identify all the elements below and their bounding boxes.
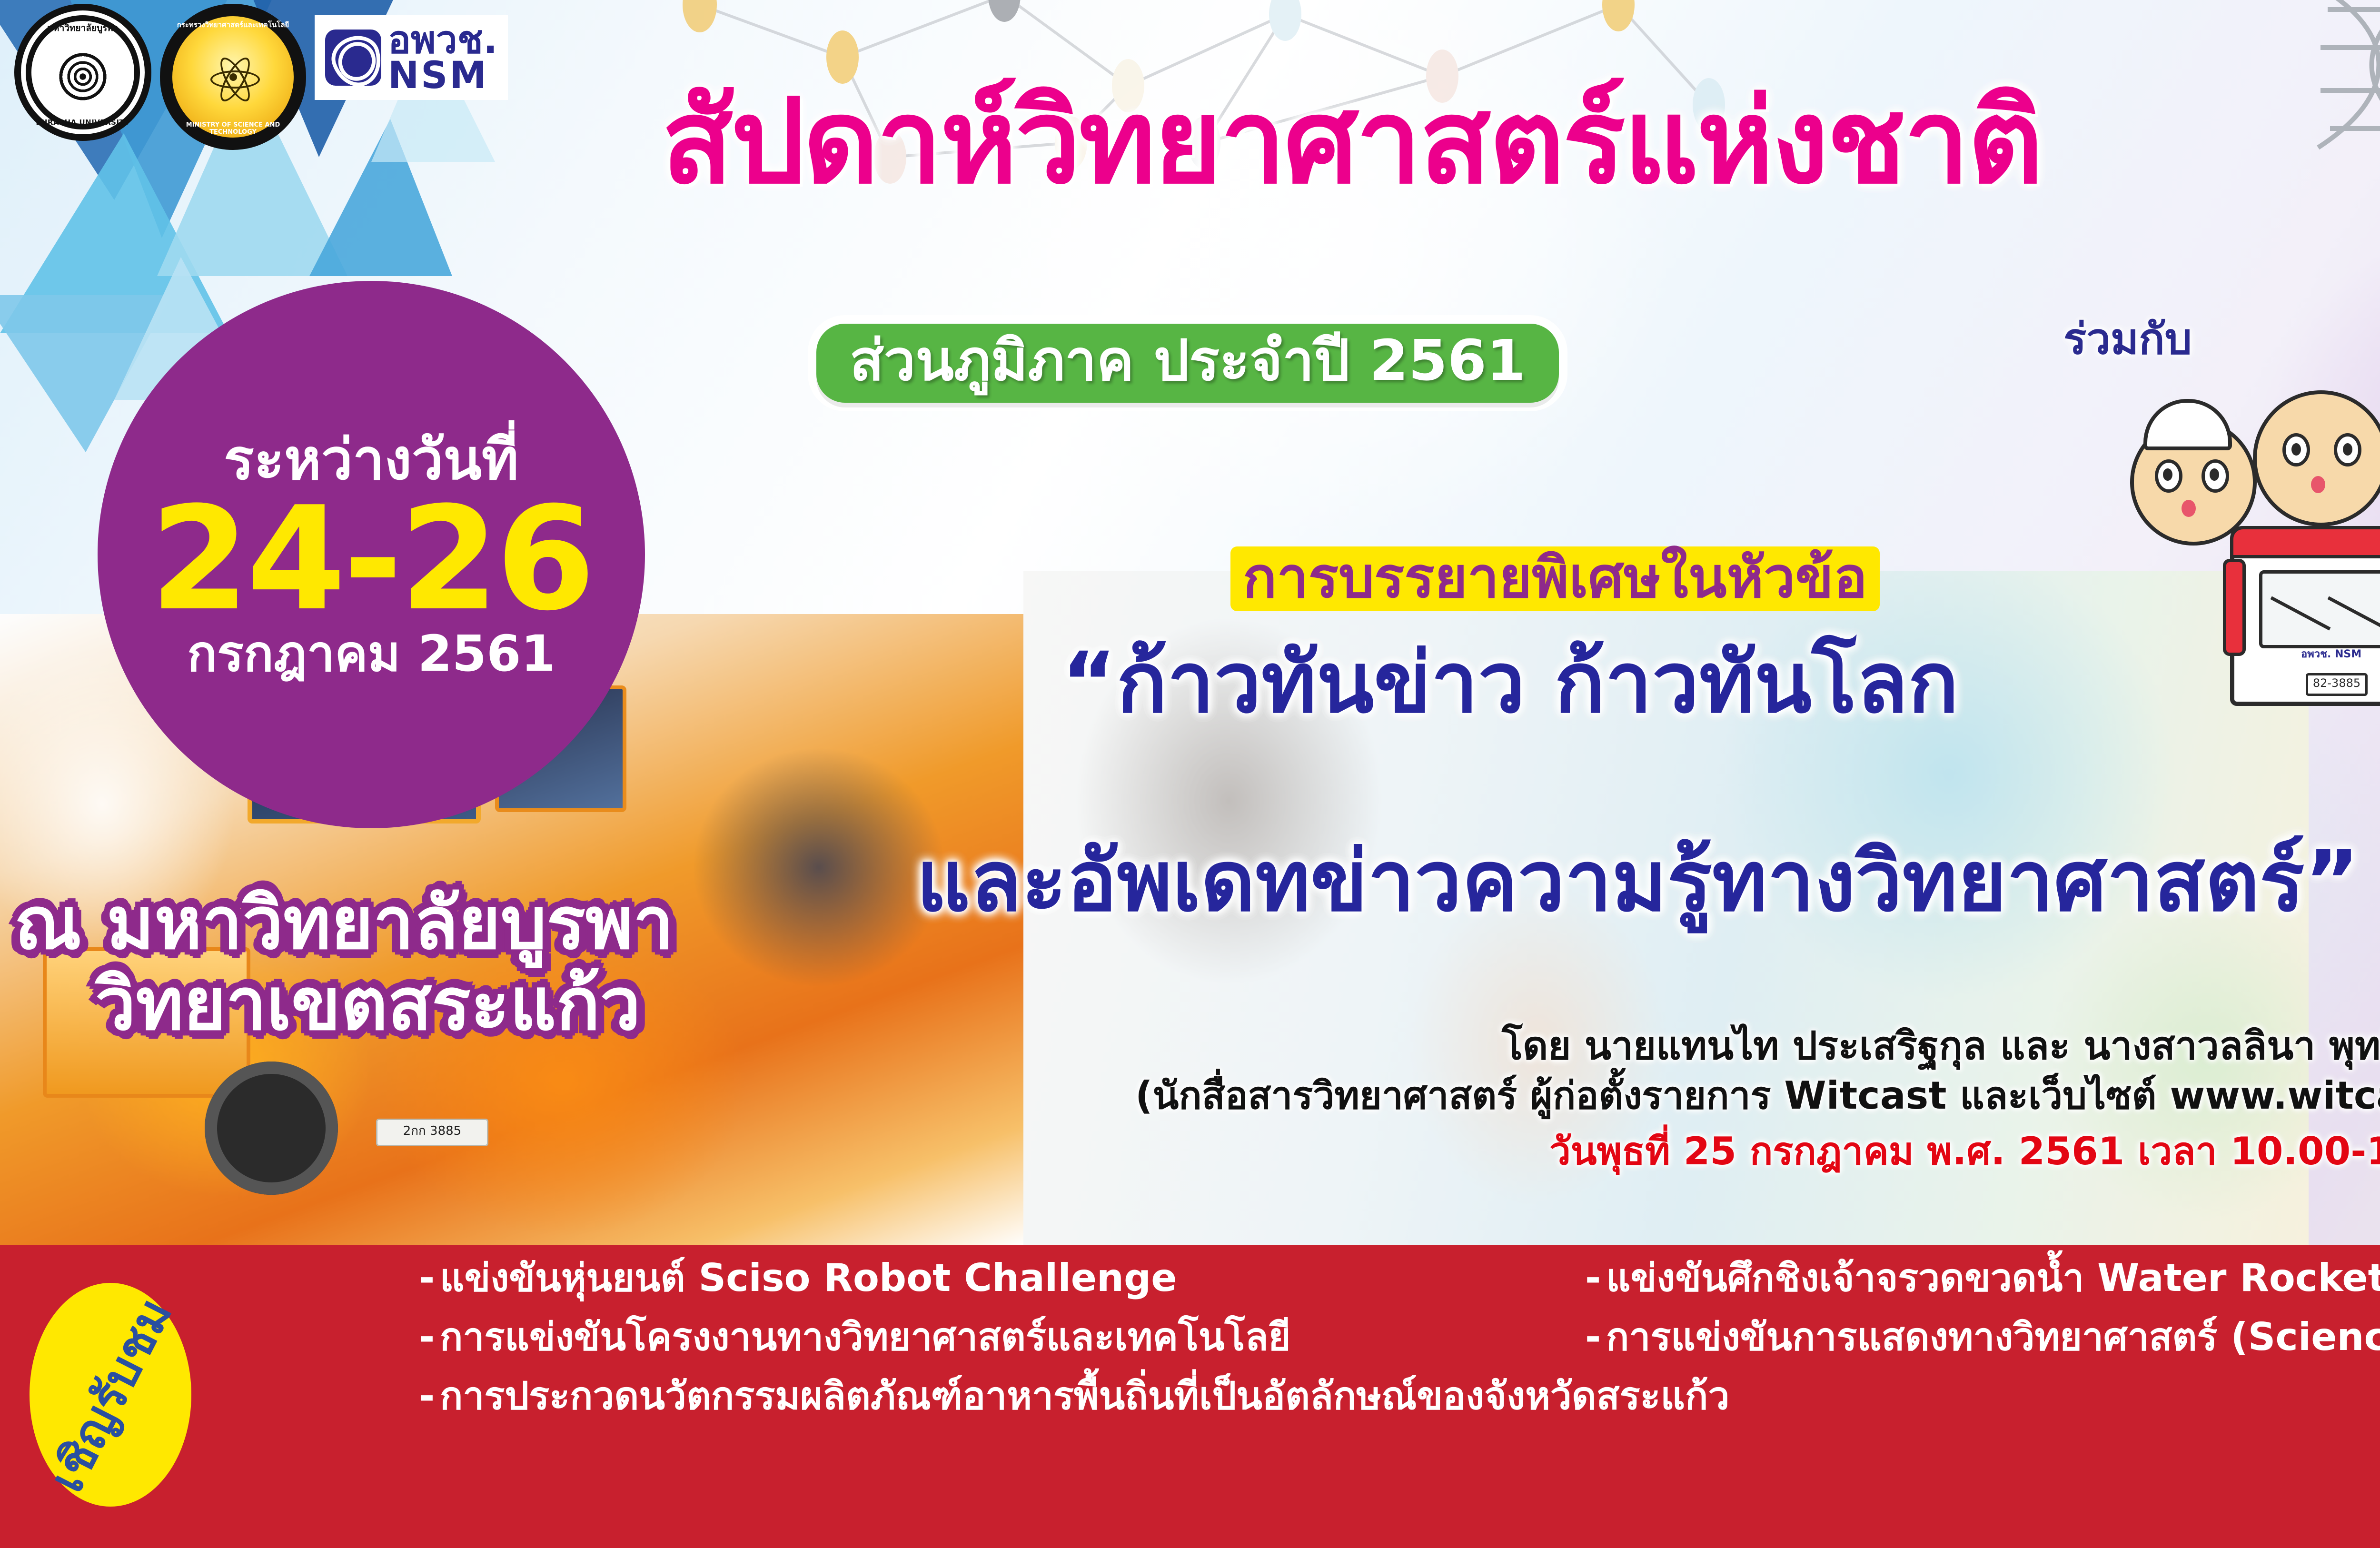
dna-helix-icon	[2275, 0, 2380, 200]
mascot-boy-eye	[2282, 433, 2310, 466]
lecture-heading: การบรรยายพิเศษในหัวข้อ	[1230, 546, 1880, 611]
list-item: แข่งขันศึกชิงเจ้าจรวดขวดน้ำ Water Rocket…	[1585, 1259, 2380, 1297]
mascot-boy-mouth	[2311, 476, 2325, 493]
nsm-thai-label: อพวช.	[388, 22, 497, 58]
activities-column-right: แข่งขันศึกชิงเจ้าจรวดขวดน้ำ Water Rocket…	[1585, 1259, 2380, 1377]
bus-roof	[2233, 529, 2380, 558]
mascot-girl-cap-icon	[2143, 399, 2232, 450]
mascot-girl-mouth	[2182, 500, 2196, 517]
venue-block: ณ มหาวิทยาลัยบูรพา วิทยาเขตสระแก้ว	[14, 883, 674, 1045]
list-item: การแข่งขันการแสดงทางวิทยาศาสตร์ (Science…	[1585, 1318, 2380, 1356]
bus-mirror-left	[2223, 559, 2246, 656]
bus-plate-label: 82-3885	[2306, 673, 2368, 696]
mascot-girl-eye	[2201, 459, 2229, 493]
buu-logo-thai-text: มหาวิทยาลัยบูรพา	[21, 21, 145, 35]
invite-badge: เชิญรับชม	[30, 1283, 191, 1507]
buu-logo-english-text: BURAPHA UNIVERSITY	[21, 118, 145, 127]
venue-line-2: วิทยาเขตสระแก้ว	[95, 964, 674, 1045]
nsm-english-label: NSM	[388, 58, 497, 93]
lecture-title-line-1: “ก้าวทันข่าว ก้าวทันโลก	[1061, 640, 1959, 726]
date-month-year: กรกฎาคม 2561	[187, 629, 555, 678]
activities-footer-bar: เชิญรับชม แข่งขันหุ่นยนต์ Sciso Robot Ch…	[0, 1245, 2380, 1548]
page-title: สัปดาห์วิทยาศาสตร์แห่งชาติ	[662, 83, 2042, 200]
lecture-title-line-2: และอัพเดทข่าวความรู้ทางวิทยาศาสตร์”	[916, 839, 2360, 924]
mascot-boy-head	[2253, 390, 2380, 526]
date-badge: ระหว่างวันที่ 24-26 กรกฎาคม 2561	[98, 281, 645, 828]
lecture-schedule: วันพุธที่ 25 กรกฎาคม พ.ศ. 2561 เวลา 10.0…	[1549, 1121, 2380, 1181]
list-item: แข่งขันหุ่นยนต์ Sciso Robot Challenge	[419, 1259, 1729, 1297]
ministry-of-science-logo: กระทรวงวิทยาศาสตร์และเทคโนโลยี MINISTRY …	[160, 4, 306, 150]
nsm-swirl-icon	[325, 30, 381, 86]
caravan-mascot-illustration: อพวช. NSM 82-3885	[2125, 362, 2380, 705]
partnership-label: ร่วมกับ	[2063, 305, 2192, 373]
lecture-credentials: (นักสื่อสารวิทยาศาสตร์ ผู้ก่อตั้งรายการ …	[1135, 1065, 2380, 1126]
most-logo-thai-text: กระทรวงวิทยาศาสตร์และเทคโนโลยี	[172, 19, 294, 30]
subtitle-pill: ส่วนภูมิภาค ประจำปี 2561	[816, 324, 1559, 403]
list-item: การประกวดนวัตกรรมผลิตภัณฑ์อาหารพื้นถิ่นท…	[419, 1377, 1729, 1415]
nsm-logo: อพวช. NSM	[315, 15, 508, 100]
most-logo-english-text: MINISTRY OF SCIENCE AND TECHNOLOGY	[172, 121, 294, 136]
invite-badge-label: เชิญรับชม	[30, 1285, 192, 1505]
partner-logos: มหาวิทยาลัยบูรพา BURAPHA UNIVERSITY กระท…	[14, 4, 508, 150]
event-poster-banner: 2กก 3885 มหาวิทยาลัยบูรพา BURAPHA UNIVER…	[0, 0, 2380, 1548]
buu-logo-emblem	[47, 37, 119, 108]
venue-line-1: ณ มหาวิทยาลัยบูรพา	[14, 883, 674, 964]
atom-icon	[210, 54, 256, 100]
nsm-wordmark: อพวช. NSM	[388, 22, 497, 93]
date-days: 24-26	[150, 491, 592, 627]
poster-top-background: 2กก 3885 มหาวิทยาลัยบูรพา BURAPHA UNIVER…	[0, 0, 2380, 1245]
mascot-bus-icon: อพวช. NSM 82-3885	[2230, 526, 2380, 706]
bus-windshield-icon	[2259, 570, 2380, 648]
mascot-boy-eye	[2334, 433, 2361, 466]
list-item: การแข่งขันโครงงานทางวิทยาศาสตร์และเทคโนโ…	[419, 1318, 1729, 1356]
mascot-girl-eye	[2155, 459, 2182, 493]
burapha-university-logo: มหาวิทยาลัยบูรพา BURAPHA UNIVERSITY	[14, 4, 151, 141]
activities-column-left: แข่งขันหุ่นยนต์ Sciso Robot Challenge กา…	[419, 1259, 1729, 1436]
bus-wheel	[205, 1062, 338, 1195]
bus-brand-label: อพวช. NSM	[2301, 649, 2361, 660]
bus-license-plate: 2กก 3885	[376, 1119, 488, 1146]
